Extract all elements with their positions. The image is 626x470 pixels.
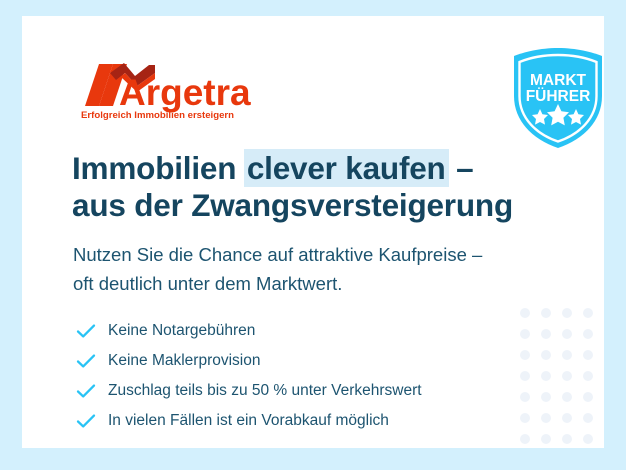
dot bbox=[583, 371, 593, 381]
headline-prefix: Immobilien bbox=[72, 150, 245, 186]
page-title: Immobilien clever kaufen – aus der Zwang… bbox=[72, 150, 572, 224]
list-item: Keine Maklerprovision bbox=[76, 346, 546, 376]
list-item: In vielen Fällen ist ein Vorabkauf mögli… bbox=[76, 406, 546, 436]
dot bbox=[583, 413, 593, 423]
dot bbox=[583, 308, 593, 318]
dot bbox=[562, 371, 572, 381]
promo-banner: Argetra Erfolgreich Immobilien ersteiger… bbox=[0, 0, 626, 470]
benefit-list: Keine Notargebühren Keine Maklerprovisio… bbox=[76, 316, 546, 436]
list-item-label: In vielen Fällen ist ein Vorabkauf mögli… bbox=[102, 412, 389, 430]
badge-line1: MARKT bbox=[530, 72, 586, 89]
subtitle-line-1: Nutzen Sie die Chance auf attraktive Kau… bbox=[73, 240, 573, 269]
dot bbox=[583, 392, 593, 402]
headline-suffix: – bbox=[448, 150, 474, 186]
list-item: Zuschlag teils bis zu 50 % unter Verkehr… bbox=[76, 376, 546, 406]
dot bbox=[562, 350, 572, 360]
dot bbox=[562, 434, 572, 444]
check-icon bbox=[76, 322, 102, 340]
dot bbox=[583, 329, 593, 339]
market-leader-badge: MARKT FÜHRER bbox=[510, 46, 604, 150]
logo-wordmark: Argetra bbox=[119, 72, 251, 113]
dot bbox=[562, 392, 572, 402]
argetra-logo[interactable]: Argetra Erfolgreich Immobilien ersteiger… bbox=[79, 60, 259, 122]
check-icon bbox=[76, 412, 102, 430]
check-icon bbox=[76, 382, 102, 400]
badge-line2: FÜHRER bbox=[526, 88, 591, 105]
list-item: Keine Notargebühren bbox=[76, 316, 546, 346]
page-subtitle: Nutzen Sie die Chance auf attraktive Kau… bbox=[73, 240, 573, 298]
list-item-label: Zuschlag teils bis zu 50 % unter Verkehr… bbox=[102, 382, 422, 400]
headline-line-1: Immobilien clever kaufen – bbox=[72, 150, 572, 187]
list-item-label: Keine Notargebühren bbox=[102, 322, 255, 340]
subtitle-line-2: oft deutlich unter dem Marktwert. bbox=[73, 269, 573, 298]
headline-highlight: clever kaufen bbox=[244, 149, 449, 187]
promo-card: Argetra Erfolgreich Immobilien ersteiger… bbox=[22, 16, 604, 448]
dot bbox=[583, 434, 593, 444]
dot bbox=[562, 413, 572, 423]
dot bbox=[562, 329, 572, 339]
check-icon bbox=[76, 352, 102, 370]
dot bbox=[562, 308, 572, 318]
dot bbox=[583, 350, 593, 360]
headline-line-2: aus der Zwangsversteigerung bbox=[72, 187, 572, 224]
list-item-label: Keine Maklerprovision bbox=[102, 352, 261, 370]
logo-tagline: Erfolgreich Immobilien ersteigern bbox=[81, 110, 234, 121]
